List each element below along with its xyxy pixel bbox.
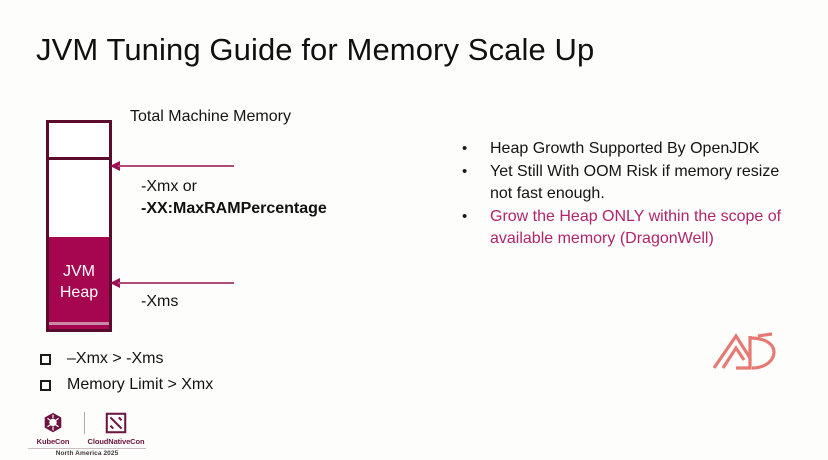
arrow-line (118, 282, 234, 284)
check-item: –Xmx > -Xms (40, 348, 213, 370)
cncf-square-icon (104, 411, 128, 435)
brand-cloudnativecon: CloudNativeCon (87, 437, 145, 446)
jvm-heap-block: JVM Heap (49, 237, 109, 329)
brand-kubecon: KubeCon (24, 437, 82, 446)
bullet-text: Yet Still With OOM Risk if memory resize… (490, 161, 802, 205)
page-title: JVM Tuning Guide for Memory Scale Up (36, 32, 594, 68)
footer-marks (24, 410, 156, 436)
bullet-list: • Heap Growth Supported By OpenJDK • Yet… (462, 138, 802, 251)
bullet-item: • Grow the Heap ONLY within the scope of… (462, 206, 802, 250)
footer-divider (84, 412, 85, 434)
footer-names: KubeCon CloudNativeCon (24, 437, 156, 446)
kubecon-footer-logo: KubeCon CloudNativeCon North America 202… (24, 410, 156, 454)
bullet-marker-icon: • (462, 138, 490, 160)
checkbox-icon (40, 380, 51, 391)
heap-label-line2: Heap (60, 282, 98, 303)
kubecon-mark-cell (24, 411, 82, 435)
checklist: –Xmx > -Xms Memory Limit > Xmx (40, 348, 213, 400)
bullet-text: Grow the Heap ONLY within the scope of a… (490, 206, 802, 250)
ad-logo-icon (706, 328, 782, 376)
bullet-item: • Heap Growth Supported By OpenJDK (462, 138, 802, 160)
xmx-label-line1: -Xmx or (141, 176, 327, 198)
bullet-marker-icon: • (462, 206, 490, 228)
footer-region: North America 2025 (28, 448, 146, 457)
checkbox-icon (40, 354, 51, 365)
diagram-caption: Total Machine Memory (130, 108, 291, 126)
heap-label-line1: JVM (63, 261, 95, 282)
heap-baseline (49, 322, 109, 325)
bullet-item: • Yet Still With OOM Risk if memory resi… (462, 161, 802, 205)
check-item: Memory Limit > Xmx (40, 374, 213, 396)
arrow-line (118, 165, 234, 167)
memory-bar-divider (49, 157, 109, 160)
check-text: –Xmx > -Xms (67, 348, 163, 370)
check-text: Memory Limit > Xmx (67, 374, 213, 396)
kubernetes-wheel-icon (41, 411, 65, 435)
memory-bar: JVM Heap (46, 120, 112, 332)
slide-canvas: JVM Tuning Guide for Memory Scale Up Tot… (0, 0, 828, 460)
cloudnativecon-mark-cell (87, 411, 145, 435)
xmx-label: -Xmx or -XX:MaxRAMPercentage (141, 176, 327, 220)
bullet-text: Heap Growth Supported By OpenJDK (490, 138, 759, 160)
ad-logo (706, 328, 782, 376)
xms-label: -Xms (141, 293, 178, 311)
xmx-label-line2: -XX:MaxRAMPercentage (141, 198, 327, 220)
bullet-marker-icon: • (462, 161, 490, 183)
xms-arrow (110, 277, 234, 289)
xmx-arrow (110, 160, 234, 172)
